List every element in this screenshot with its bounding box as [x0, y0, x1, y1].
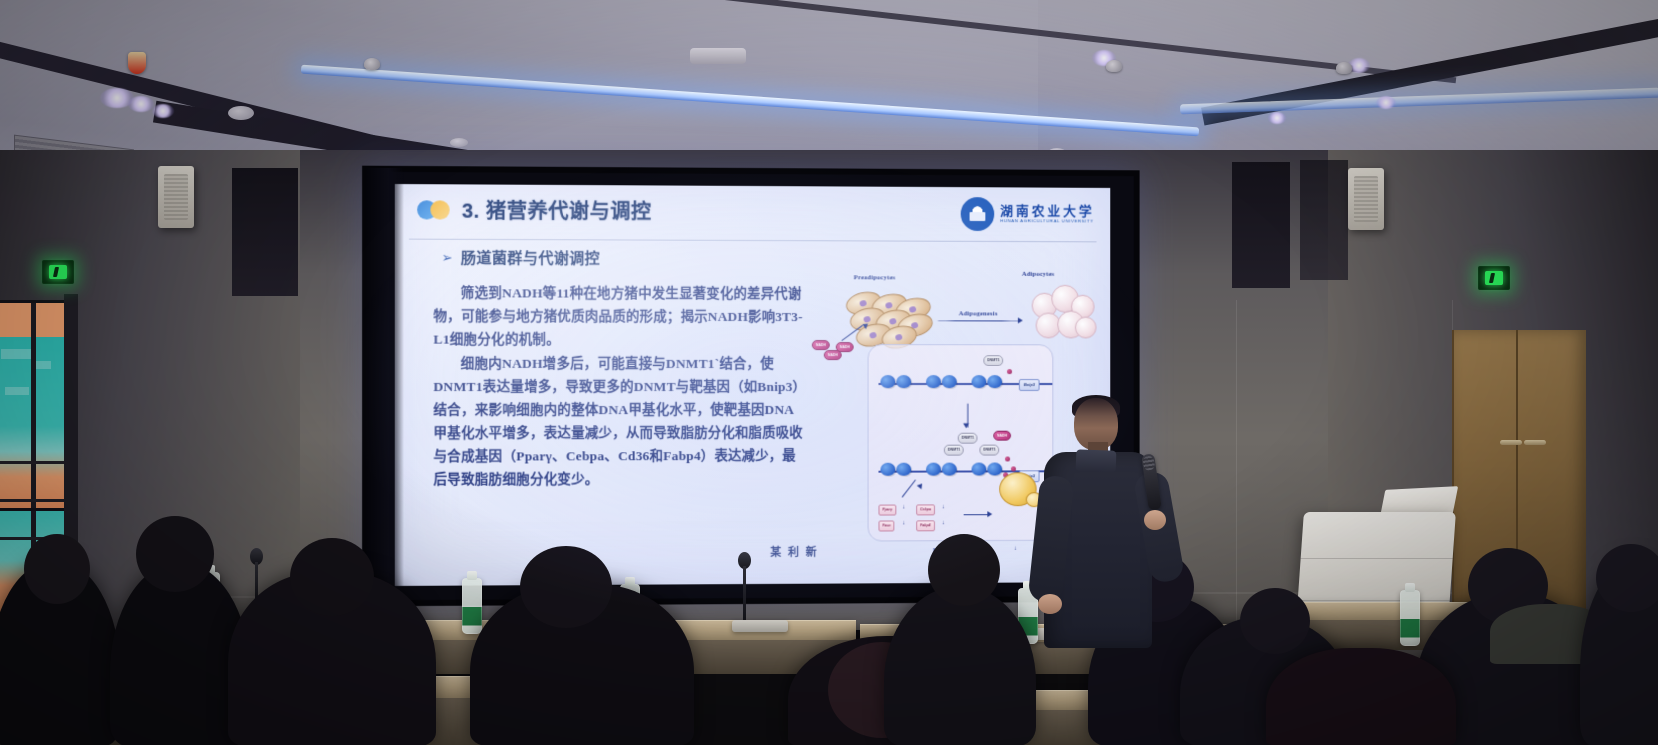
nucleosome	[880, 463, 895, 476]
slide-body-text: 筛选到NADH等11种在地方猪中发生显著变化的差异代谢物，可能参与地方猪优质肉品…	[433, 281, 805, 491]
ceiling-spotlight-2	[128, 96, 154, 112]
slide-subheading-text: 肠道菌群与代谢调控	[461, 247, 600, 269]
presenter-left-hand	[1038, 594, 1062, 614]
bnip3-gene-box-top: Bnip3	[1019, 379, 1040, 391]
audience-head-8	[1240, 588, 1310, 654]
audience-head-1	[24, 534, 90, 604]
door-handle-left[interactable]	[1500, 440, 1522, 445]
fire-alarm-device	[128, 52, 146, 74]
arrow-head-adipogenesis	[1018, 317, 1023, 323]
exit-sign-right[interactable]	[1478, 266, 1510, 290]
wall-speaker-left	[158, 166, 194, 228]
down-arrow-icon: ↓	[902, 520, 905, 526]
slide-title: 3. 猪营养代谢与调控	[462, 194, 652, 224]
dnmt1-label: DNMT1	[983, 355, 1003, 366]
wall-dark-panel-left	[232, 168, 298, 296]
sprinkler-head-1	[364, 58, 380, 70]
university-name-cn: 湖南农业大学	[1000, 205, 1094, 218]
nucleosome	[972, 375, 987, 388]
bullet-arrow-icon: ➢	[442, 249, 453, 265]
nadh-molecule: NADH	[993, 431, 1011, 441]
audience-head-2	[136, 516, 214, 592]
gene-box-fabp4: Fabp4	[916, 520, 934, 531]
adipocyte-cell	[1075, 317, 1097, 339]
dnmt1-label: DNMT1	[944, 445, 964, 456]
water-bottle-2	[462, 578, 482, 634]
nucleosome	[926, 463, 941, 476]
smoke-detector-2	[450, 138, 468, 147]
diagram-label-preadipocytes: Preadipocytes	[854, 274, 896, 281]
water-bottle-6	[1400, 590, 1420, 646]
nucleosome	[896, 463, 911, 476]
presentation-photo-scene: 3. 猪营养代谢与调控 湖南农业大学 HUNAN AGRICULTURAL UN…	[0, 0, 1658, 745]
wall-seam-1	[1236, 300, 1237, 630]
arrow-to-lipid	[964, 514, 990, 515]
adipocyte-cluster	[1032, 285, 1097, 347]
window-building-detail-3	[35, 361, 51, 369]
dnmt1-label: DNMT1	[958, 433, 978, 444]
preadipocyte-cluster	[846, 292, 929, 348]
ceiling-spotlight-3	[152, 104, 174, 118]
nucleosome	[880, 375, 895, 388]
window-building-detail-2	[5, 387, 29, 395]
running-person-exit-icon	[49, 265, 67, 279]
lipid-droplet	[999, 472, 1036, 506]
bottle-label	[1401, 619, 1419, 637]
smoke-detector-1	[228, 106, 254, 120]
slide-footer-text: 某 利 新	[770, 544, 818, 560]
down-arrow-icon-lipid: ↓	[1014, 546, 1017, 552]
nucleus-panel: DNMT1 Bnip3 DNMT1 NADH	[868, 344, 1054, 541]
presenter-collar	[1076, 449, 1117, 472]
door-handle-right[interactable]	[1524, 440, 1546, 445]
window-mullion-vertical	[31, 303, 36, 515]
slide-paragraph-1: 筛选到NADH等11种在地方猪中发生显著变化的差异代谢物，可能参与地方猪优质肉品…	[433, 281, 805, 351]
nadh-molecule: NADH	[836, 342, 854, 352]
nucleosome	[972, 463, 987, 476]
arrow-head-to-genes	[917, 482, 925, 490]
methyl-group-dot	[1011, 466, 1016, 471]
arrow-to-genes	[902, 480, 917, 498]
nucleosome	[896, 375, 911, 388]
nadh-molecule: NADH	[812, 340, 830, 350]
methyl-group-dot	[1005, 457, 1010, 462]
window-building-detail-1	[1, 349, 31, 359]
sprinkler-head-2	[1106, 60, 1122, 72]
nucleosome	[942, 463, 957, 476]
arrow-head-to-lipid	[987, 511, 992, 517]
audience-member-11	[1266, 648, 1456, 745]
slide-bullet-logo-icon	[417, 200, 452, 219]
university-name-en: HUNAN AGRICULTURAL UNIVERSITY	[1000, 219, 1094, 224]
conference-room: 3. 猪营养代谢与调控 湖南农业大学 HUNAN AGRICULTURAL UN…	[0, 0, 1658, 745]
sprinkler-head-3	[1336, 62, 1352, 74]
projection-screen[interactable]: 3. 猪营养代谢与调控 湖南农业大学 HUNAN AGRICULTURAL UN…	[362, 166, 1140, 607]
audience-head-3	[290, 538, 374, 616]
arrow-adipogenesis	[937, 320, 1020, 322]
slide-subheading: ➢ 肠道菌群与代谢调控	[442, 247, 601, 269]
university-seal-icon	[961, 197, 995, 231]
slide-paragraph-2: 细胞内NADH增多后，可能直接与DNMT1`结合，使DNMT1表达量增多，导致更…	[433, 352, 805, 492]
ceiling-projector-mount	[690, 48, 746, 64]
gene-box-cebpa: Cebpa	[916, 504, 935, 515]
gene-box-fasn: Fasn	[878, 520, 894, 531]
diagram-label-adipogenesis: Adipogenesis	[959, 310, 998, 317]
ceiling-spotlight-7	[1268, 112, 1286, 124]
table-microphone-stand-2	[743, 566, 746, 628]
presenter-right-hand	[1144, 510, 1166, 530]
nucleosome	[926, 375, 941, 388]
presenter	[1036, 398, 1172, 648]
nucleosome	[987, 375, 1002, 388]
dnmt1-label: DNMT1	[979, 445, 999, 456]
diagram-label-adipocytes: Adipocytes	[1022, 271, 1055, 278]
ceiling-spotlight-6	[1376, 96, 1396, 109]
table-microphone-base-2	[732, 620, 788, 632]
down-arrow-icon: ↓	[942, 504, 945, 510]
screen-left-shadow	[366, 168, 404, 592]
bottle-label	[463, 607, 481, 625]
audience-head-10	[1596, 544, 1658, 612]
university-logo: 湖南农业大学 HUNAN AGRICULTURAL UNIVERSITY	[961, 197, 1095, 231]
gene-box-ppary: Pparγ	[878, 505, 896, 516]
university-wordmark: 湖南农业大学 HUNAN AGRICULTURAL UNIVERSITY	[1000, 205, 1094, 225]
down-arrow-icon: ↓	[942, 520, 945, 526]
nucleosome	[987, 462, 1002, 475]
exit-sign-left[interactable]	[42, 260, 74, 284]
wall-speaker-right	[1348, 168, 1384, 230]
wall-dark-panel-right-2	[1300, 160, 1348, 280]
arrow-head-vertical	[963, 423, 969, 428]
audience-head-4	[520, 546, 612, 628]
slide-header-divider	[409, 239, 1097, 243]
running-person-exit-icon-right	[1485, 271, 1503, 285]
logo-circle-gold	[430, 200, 449, 219]
audience-head-6	[928, 534, 1000, 606]
presentation-slide: 3. 猪营养代谢与调控 湖南农业大学 HUNAN AGRICULTURAL UN…	[395, 184, 1111, 586]
nucleosome	[942, 375, 957, 388]
down-arrow-icon: ↓	[902, 505, 905, 511]
wall-dark-panel-right	[1232, 162, 1290, 288]
methyl-group-dot	[1007, 369, 1012, 374]
